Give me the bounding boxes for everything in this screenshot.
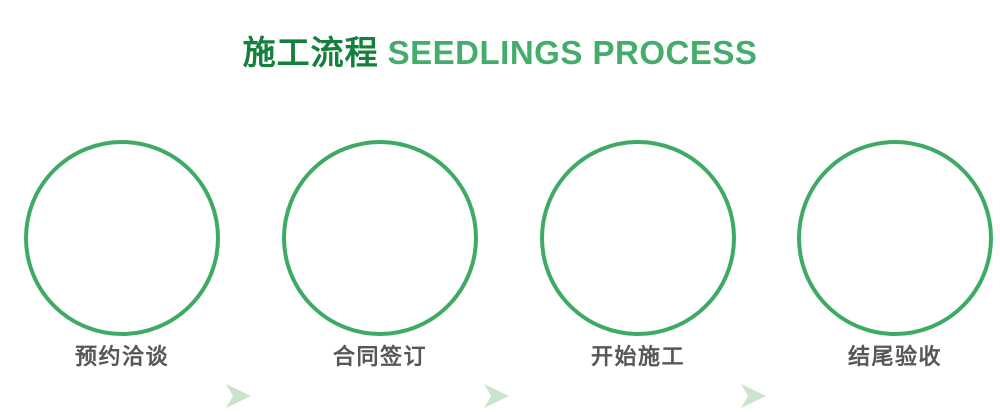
step-label-4: 结尾验收 [797, 342, 993, 372]
process-step-4[interactable] [797, 140, 993, 336]
process-steps [0, 140, 1000, 340]
page-title-chinese: 施工流程 [243, 34, 379, 71]
step-ring-3 [540, 140, 736, 336]
step-label-3: 开始施工 [540, 342, 736, 372]
step-ring-4 [797, 140, 993, 336]
arrow-right-icon-2 [480, 380, 512, 412]
process-step-1[interactable] [24, 140, 220, 336]
page-title: 施工流程SEEDLINGS PROCESS [0, 26, 1000, 74]
step-label-1: 预约洽谈 [24, 342, 220, 372]
process-step-labels: 预约洽谈 合同签订 开始施工 结尾验收 [0, 342, 1000, 382]
arrow-right-icon-1 [222, 380, 254, 412]
process-step-2[interactable] [282, 140, 478, 336]
step-ring-2 [282, 140, 478, 336]
page-title-english: SEEDLINGS PROCESS [388, 34, 758, 71]
arrow-right-icon-3 [737, 380, 769, 412]
step-ring-1 [24, 140, 220, 336]
process-step-3[interactable] [540, 140, 736, 336]
step-label-2: 合同签订 [282, 342, 478, 372]
